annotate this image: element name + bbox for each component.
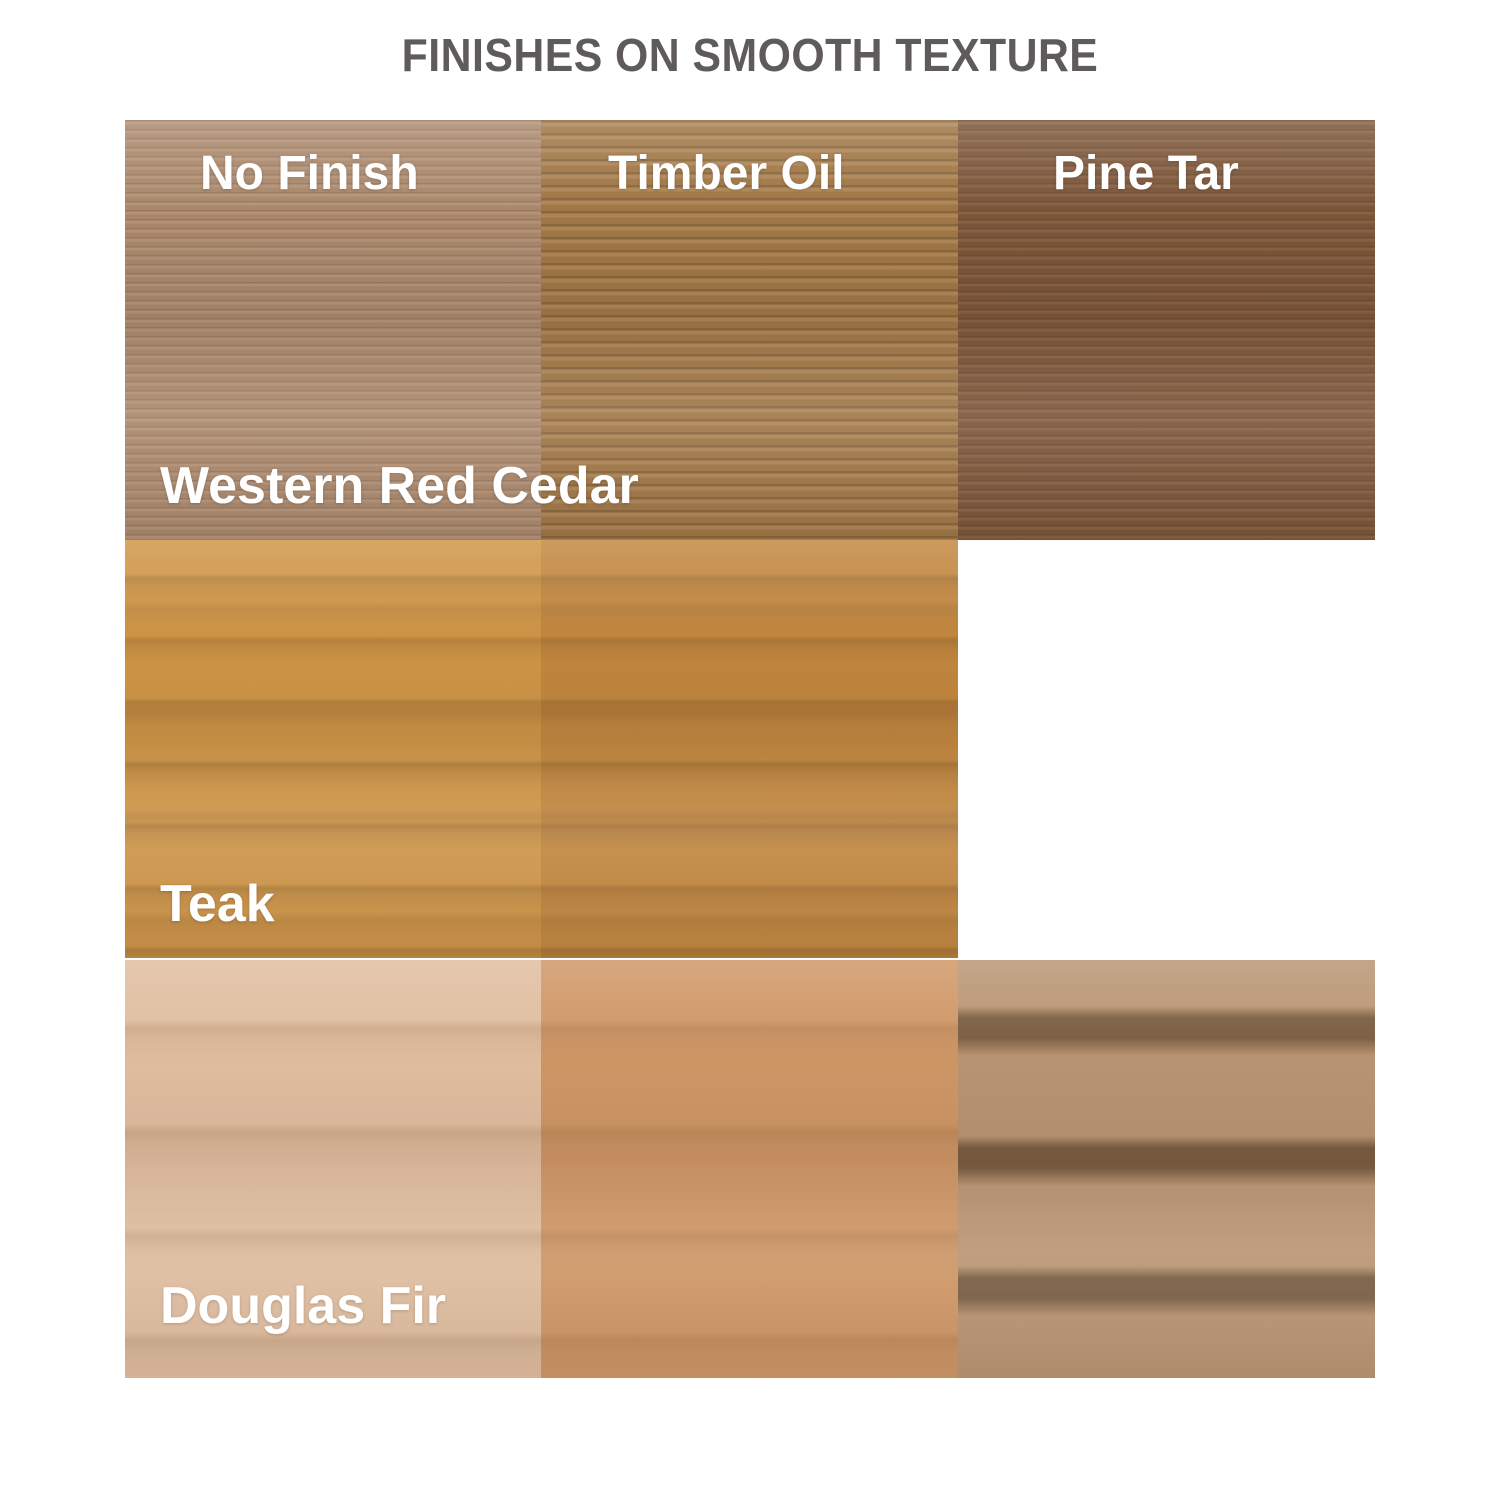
row-label-douglas-fir: Douglas Fir [160, 1280, 446, 1332]
row-label-western-red-cedar: Western Red Cedar [160, 460, 639, 512]
swatch-fir-pine-tar[interactable] [958, 960, 1375, 1378]
row-label-teak: Teak [160, 878, 275, 930]
finish-sample-grid: No Finish Timber Oil Pine Tar Western Re… [125, 120, 1375, 1378]
column-label-timber-oil: Timber Oil [608, 150, 845, 198]
column-label-pine-tar: Pine Tar [1053, 150, 1239, 198]
swatch-fir-timber-oil[interactable] [541, 960, 958, 1378]
wood-sheen-overlay [541, 540, 958, 958]
swatch-teak-timber-oil[interactable] [541, 540, 958, 958]
wood-sheen-overlay [541, 960, 958, 1378]
swatch-teak-pine-tar-empty [958, 540, 1375, 958]
page-title: FINISHES ON SMOOTH TEXTURE [53, 28, 1448, 82]
wood-sheen-overlay [958, 960, 1375, 1378]
column-label-no-finish: No Finish [200, 150, 419, 198]
